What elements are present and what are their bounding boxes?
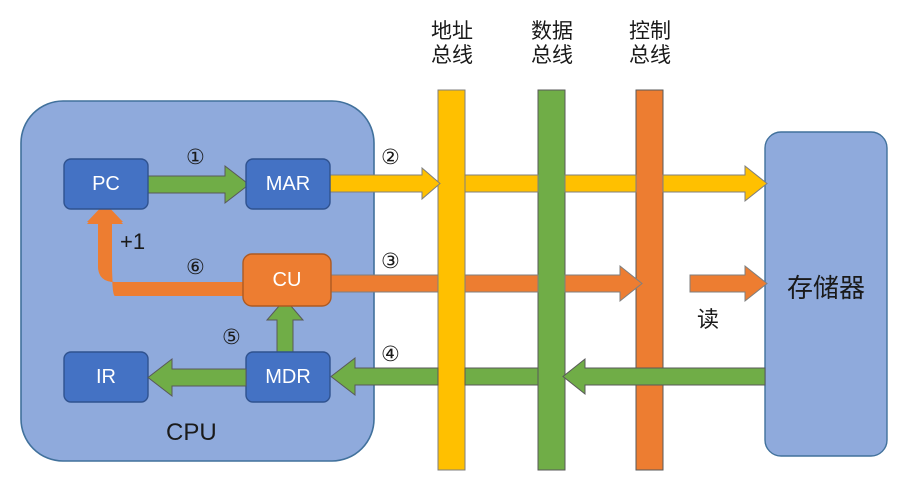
increment-label: +1	[120, 229, 145, 255]
register-label-cu: CU	[243, 269, 331, 292]
address-line-seg-1	[465, 175, 538, 192]
control-line-seg-0	[330, 275, 438, 292]
step-marker-2: ②	[381, 145, 400, 170]
register-label-mar: MAR	[246, 173, 330, 196]
control-bus-bar	[636, 90, 663, 470]
register-label-pc: PC	[64, 173, 148, 196]
data-bus-label: 数据 总线	[524, 20, 580, 68]
register-label-ir: IR	[64, 366, 148, 389]
arrow-memory-to-data-bus	[563, 359, 765, 394]
step-marker-3: ③	[381, 249, 400, 274]
arrow-read-signal-to-memory	[690, 266, 767, 301]
register-label-mdr: MDR	[246, 366, 330, 389]
diagram-canvas: 地址 总线 数据 总线 控制 总线 PC MAR CU IR MDR CPU +…	[0, 0, 902, 499]
data-line-seg-1	[465, 368, 538, 385]
step-marker-4: ④	[381, 342, 400, 367]
data-bus-bar	[538, 90, 565, 470]
step-marker-1: ①	[186, 145, 205, 170]
step-marker-5: ⑤	[222, 325, 241, 350]
arrow-control-into-control-bus	[565, 266, 642, 301]
read-signal-label: 读	[697, 302, 719, 334]
control-bus-label: 控制 总线	[622, 20, 678, 68]
control-line-seg-1	[465, 275, 538, 292]
arrow-address-bus-to-memory	[663, 166, 767, 201]
address-bus-label: 地址 总线	[424, 20, 480, 68]
cpu-label: CPU	[166, 419, 217, 447]
memory-label: 存储器	[765, 268, 887, 305]
address-bus-bar	[438, 90, 465, 470]
address-line-seg-2	[565, 175, 636, 192]
step-marker-6: ⑥	[186, 255, 205, 280]
